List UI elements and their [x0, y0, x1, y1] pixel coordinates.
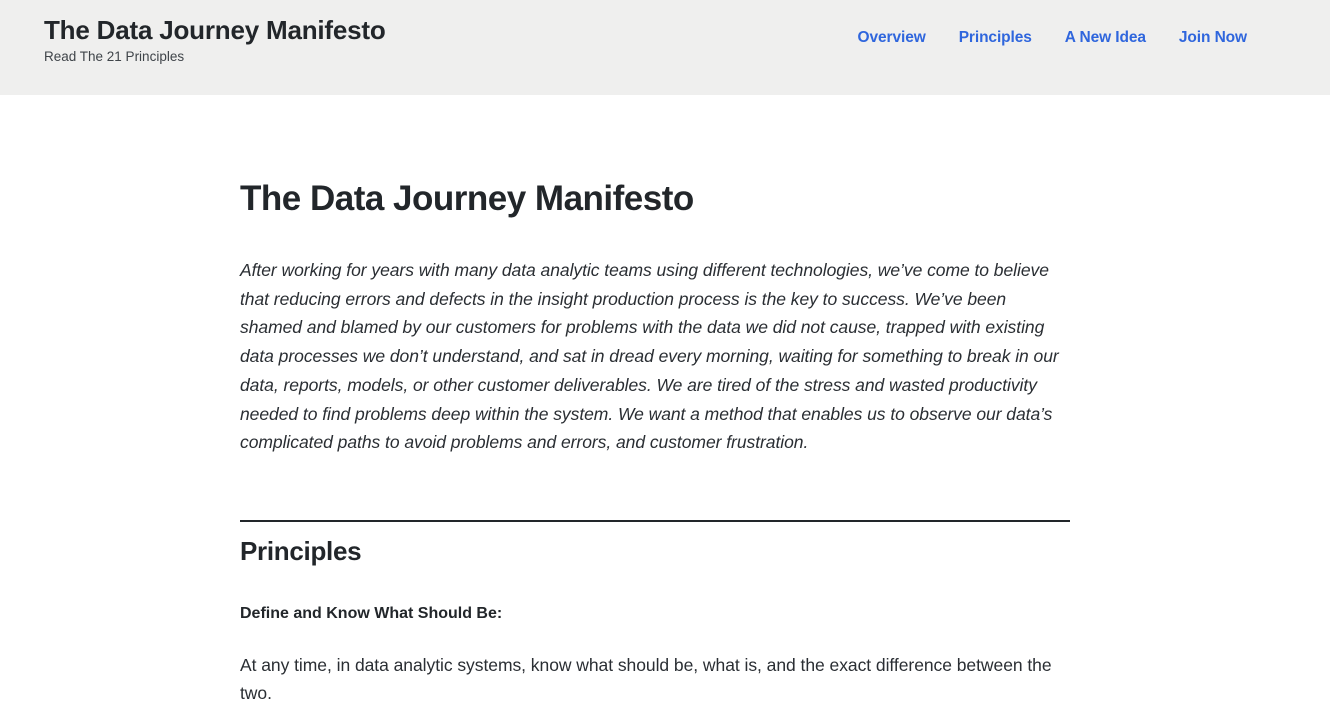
nav-link-join-now[interactable]: Join Now [1179, 29, 1247, 47]
principle-body: At any time, in data analytic systems, k… [240, 651, 1070, 708]
nav-link-overview[interactable]: Overview [858, 29, 926, 47]
brand[interactable]: The Data Journey Manifesto Read The 21 P… [0, 0, 386, 65]
site-header: The Data Journey Manifesto Read The 21 P… [0, 0, 1330, 95]
main-content: The Data Journey Manifesto After working… [240, 95, 1070, 708]
brand-tagline: Read The 21 Principles [44, 49, 386, 65]
principle-item: Define and Know What Should Be: At any t… [240, 604, 1070, 708]
nav-link-principles[interactable]: Principles [959, 29, 1032, 47]
intro-paragraph: After working for years with many data a… [240, 256, 1070, 457]
section-title-principles: Principles [240, 536, 1070, 567]
principle-heading: Define and Know What Should Be: [240, 604, 1070, 625]
section-divider [240, 520, 1070, 522]
primary-navigation: Overview Principles A New Idea Join Now [858, 29, 1247, 47]
page-title: The Data Journey Manifesto [240, 178, 1070, 220]
nav-link-a-new-idea[interactable]: A New Idea [1065, 29, 1146, 47]
brand-title: The Data Journey Manifesto [44, 16, 386, 46]
